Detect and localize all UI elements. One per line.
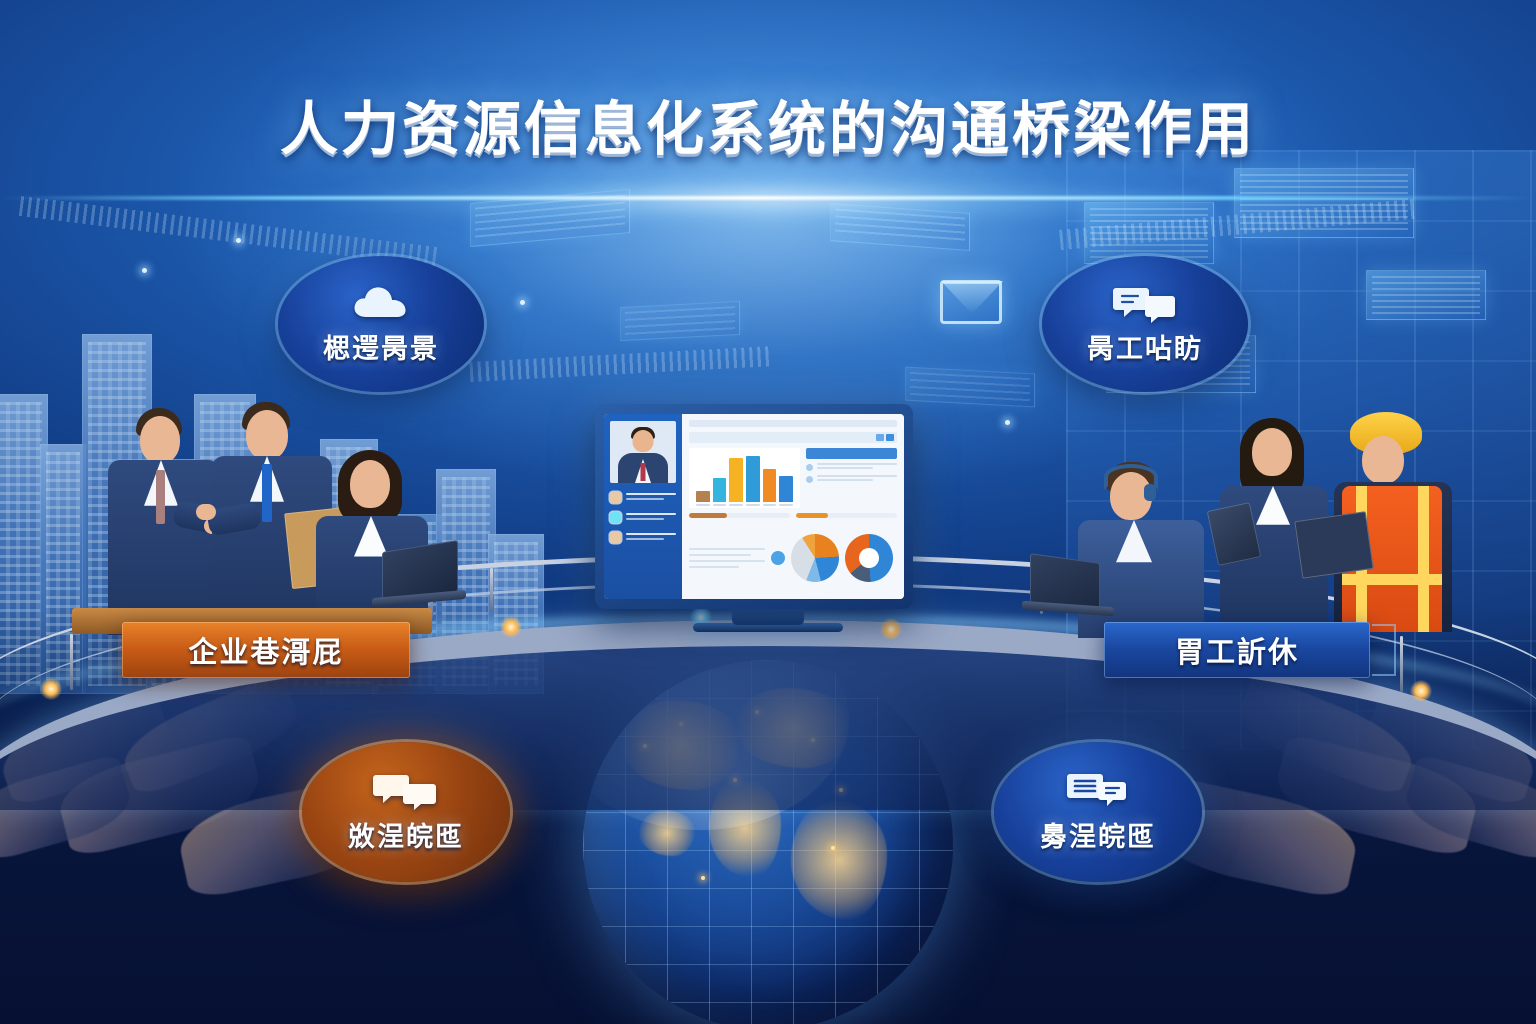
- sidebar-item-folder[interactable]: [610, 532, 676, 543]
- list-header: [806, 448, 897, 459]
- avatar: [610, 421, 676, 483]
- sidebar-item-label: [626, 533, 676, 543]
- floating-data-panel: [620, 301, 740, 341]
- title-light-streak: [0, 196, 1536, 200]
- bar-1: [696, 491, 710, 502]
- person-support-agent: [1078, 462, 1228, 637]
- pie-chart: [791, 534, 839, 582]
- badge-bottom-left-label: 敚浧皖匜: [348, 815, 464, 854]
- clock-icon: [610, 512, 621, 523]
- bar-3: [729, 458, 743, 502]
- progress-row: [689, 513, 897, 518]
- badge-bottom-right-label: 臱浧皖匜: [1040, 815, 1156, 854]
- folder-icon: [610, 532, 621, 543]
- chat-bubbles-icon: [1112, 283, 1178, 323]
- list-item[interactable]: [806, 463, 897, 471]
- sidebar-item-badge[interactable]: [610, 492, 676, 503]
- bridge-lamp: [1410, 680, 1432, 702]
- badge-top-left[interactable]: 楒遌昺景: [278, 256, 484, 392]
- message-list-icon: [1065, 771, 1131, 811]
- bridge-lamp: [500, 616, 522, 638]
- summary-text: [689, 523, 765, 593]
- dashboard-screen[interactable]: [604, 414, 904, 599]
- ribbon-right[interactable]: 胃工訢休: [1104, 622, 1370, 678]
- sidebar-item-label: [626, 493, 676, 503]
- cloud-upload-icon: [350, 283, 412, 323]
- floating-data-panel: [905, 367, 1035, 408]
- bar-4: [746, 456, 760, 502]
- records-list: [806, 448, 897, 508]
- bar-chart: [689, 448, 800, 508]
- sidebar-item-clock[interactable]: [610, 512, 676, 523]
- light-spark: [1005, 420, 1010, 425]
- light-spark: [142, 268, 147, 273]
- badge-icon: [610, 492, 621, 503]
- bridge-lamp: [40, 678, 62, 700]
- search-input[interactable]: [689, 432, 897, 443]
- bar-chart-axis: [692, 502, 797, 505]
- search-icon[interactable]: [886, 434, 894, 441]
- light-spark: [520, 300, 525, 305]
- mail-envelope-icon: [940, 280, 1002, 324]
- ribbon-left[interactable]: 企业巷滒屁: [122, 622, 410, 678]
- dashboard-sidebar[interactable]: [604, 414, 682, 599]
- dashboard-main: [682, 414, 904, 599]
- monitor-stand: [732, 609, 804, 625]
- donut-chart: [845, 534, 893, 582]
- bar-6: [779, 476, 793, 502]
- badge-bottom-left[interactable]: 敚浧皖匜: [302, 742, 510, 882]
- ribbon-left-label: 企业巷滒屁: [188, 629, 343, 671]
- badge-top-right[interactable]: 昺工呫眆: [1042, 256, 1248, 392]
- kpi-dot: [771, 551, 785, 565]
- progress-bar: [796, 513, 897, 518]
- filter-icon[interactable]: [876, 434, 884, 441]
- avatar-dot: [806, 464, 813, 471]
- avatar-dot: [806, 476, 813, 483]
- sidebar-item-label: [626, 513, 676, 523]
- poster-canvas: 人力资源信息化系统的沟通桥梁作用: [0, 0, 1536, 1024]
- bar-2: [713, 478, 727, 502]
- page-title: 人力资源信息化系统的沟通桥梁作用: [280, 82, 1256, 166]
- progress-bar: [689, 513, 790, 518]
- person-field-worker: [1330, 412, 1480, 632]
- bridge-lamp: [880, 618, 902, 640]
- bar-5: [763, 469, 777, 502]
- tech-bracket-icon: [1372, 624, 1396, 676]
- chat-bubbles-icon: [373, 771, 439, 811]
- badge-bottom-right[interactable]: 臱浧皖匜: [994, 742, 1202, 882]
- badge-top-right-label: 昺工呫眆: [1087, 327, 1203, 366]
- page-title-bar: 人力资源信息化系统的沟通桥梁作用: [0, 82, 1536, 166]
- ribbon-right-label: 胃工訢休: [1175, 629, 1299, 671]
- hr-dashboard-monitor[interactable]: [595, 404, 913, 609]
- dashboard-breadcrumb: [689, 420, 897, 427]
- light-spark: [236, 238, 241, 243]
- clipboard-prop: [1294, 511, 1373, 578]
- badge-top-left-label: 楒遌昺景: [323, 327, 439, 366]
- list-item[interactable]: [806, 475, 897, 483]
